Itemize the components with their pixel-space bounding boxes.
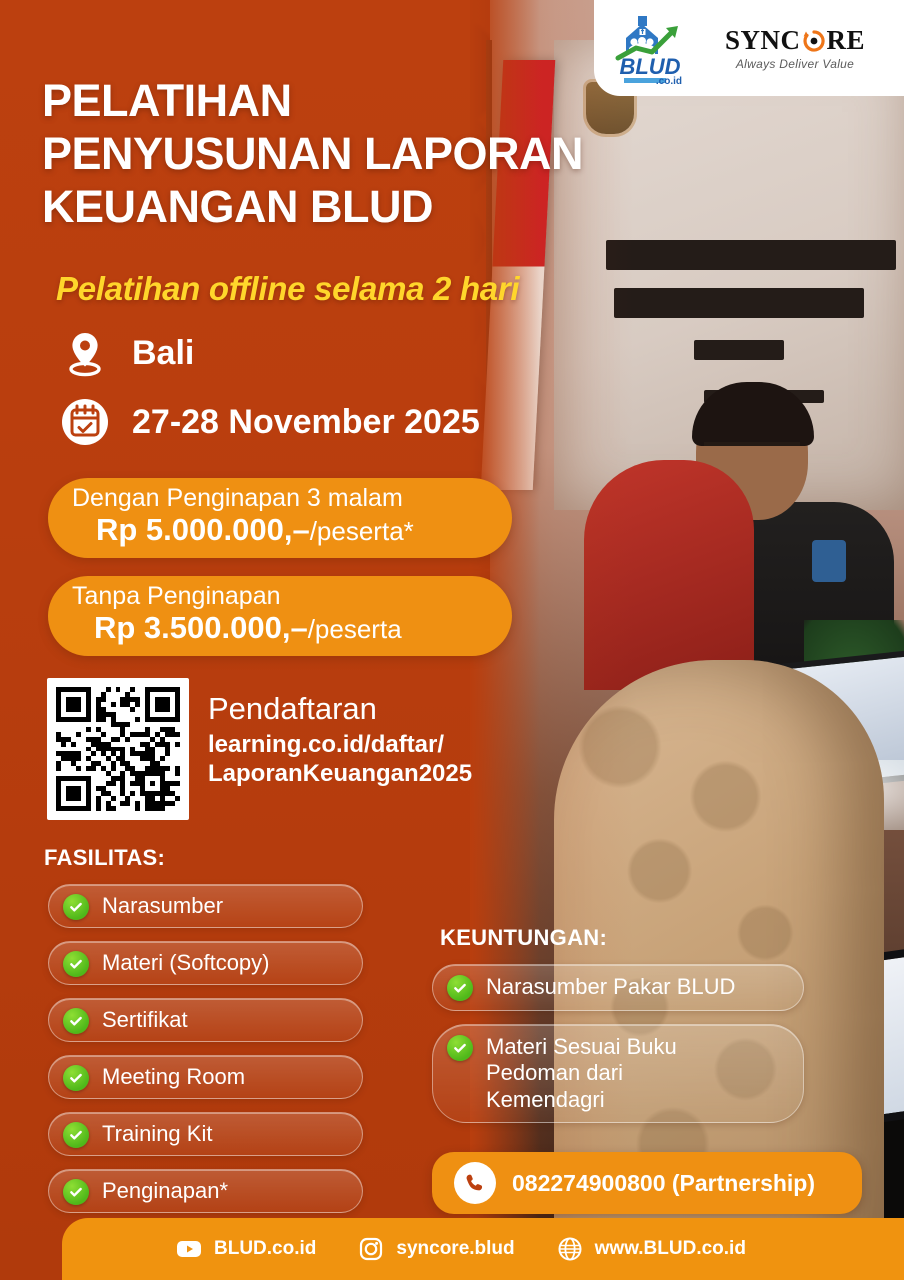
check-icon bbox=[63, 1008, 89, 1034]
registration-url-line-1: learning.co.id/daftar/ bbox=[208, 730, 528, 759]
event-location-label: Bali bbox=[132, 334, 194, 373]
fasilitas-item: Narasumber bbox=[48, 884, 363, 928]
title-line-2: PENYUSUNAN LAPORAN bbox=[42, 127, 662, 180]
registration-url[interactable]: learning.co.id/daftar/ LaporanKeuangan20… bbox=[208, 730, 528, 789]
fasilitas-item-label: Materi (Softcopy) bbox=[102, 950, 270, 976]
syncore-wordmark: SYNC RE bbox=[725, 25, 865, 56]
syncore-o-icon bbox=[802, 29, 826, 53]
title-line-3: KEUANGAN BLUD bbox=[42, 180, 662, 233]
keuntungan-heading: KEUNTUNGAN: bbox=[440, 925, 607, 951]
calendar-icon bbox=[58, 395, 112, 449]
price-amount: Rp 3.500.000,– bbox=[94, 610, 308, 645]
social-instagram-label: syncore.blud bbox=[396, 1238, 514, 1260]
registration-heading: Pendaftaran bbox=[208, 692, 528, 726]
check-icon bbox=[447, 975, 473, 1001]
keuntungan-item: Narasumber Pakar BLUD bbox=[432, 964, 804, 1011]
fasilitas-item: Meeting Room bbox=[48, 1055, 363, 1099]
footer-social-bar: BLUD.co.id syncore.blud www.BLUD.co.id bbox=[62, 1218, 904, 1280]
price-card-without-lodging: Tanpa Penginapan Rp 3.500.000,–/peserta bbox=[48, 576, 512, 656]
event-location-row: Bali bbox=[58, 326, 194, 380]
check-icon bbox=[63, 1122, 89, 1148]
fasilitas-item-label: Penginapan* bbox=[102, 1178, 228, 1204]
check-icon bbox=[63, 951, 89, 977]
fasilitas-item: Training Kit bbox=[48, 1112, 363, 1156]
registration-block: Pendaftaran learning.co.id/daftar/ Lapor… bbox=[208, 692, 528, 789]
check-icon bbox=[63, 1065, 89, 1091]
keuntungan-item: Materi Sesuai Buku Pedoman dari Kemendag… bbox=[432, 1024, 804, 1123]
price-unit: /peserta* bbox=[310, 516, 414, 546]
social-youtube[interactable]: BLUD.co.id bbox=[174, 1234, 316, 1264]
contact-bar[interactable]: 082274900800 (Partnership) bbox=[432, 1152, 862, 1214]
phone-icon bbox=[454, 1162, 496, 1204]
title-line-1: PELATIHAN bbox=[42, 74, 662, 127]
fasilitas-item-label: Sertifikat bbox=[102, 1007, 188, 1033]
poster-root: BLUD .co.id SYNC RE Always Deliver Value bbox=[0, 0, 904, 1280]
check-icon bbox=[447, 1035, 473, 1061]
price-label: Dengan Penginapan 3 malam bbox=[72, 484, 512, 512]
event-date-label: 27-28 November 2025 bbox=[132, 403, 480, 442]
check-icon bbox=[63, 894, 89, 920]
syncore-tagline: Always Deliver Value bbox=[736, 57, 854, 71]
qr-code[interactable] bbox=[47, 678, 189, 820]
social-website-label: www.BLUD.co.id bbox=[595, 1238, 746, 1260]
price-label: Tanpa Penginapan bbox=[72, 582, 512, 610]
instagram-icon bbox=[356, 1234, 386, 1264]
social-website[interactable]: www.BLUD.co.id bbox=[555, 1234, 746, 1264]
map-pin-icon bbox=[58, 326, 112, 380]
event-date-row: 27-28 November 2025 bbox=[58, 395, 480, 449]
price-card-with-lodging: Dengan Penginapan 3 malam Rp 5.000.000,–… bbox=[48, 478, 512, 558]
page-title: PELATIHAN PENYUSUNAN LAPORAN KEUANGAN BL… bbox=[42, 74, 662, 233]
check-icon bbox=[63, 1179, 89, 1205]
qr-code-pattern bbox=[56, 687, 180, 811]
fasilitas-item-label: Meeting Room bbox=[102, 1064, 245, 1090]
contact-phone-label: 082274900800 (Partnership) bbox=[512, 1170, 815, 1197]
price-unit: /peserta bbox=[308, 614, 402, 644]
youtube-icon bbox=[174, 1234, 204, 1264]
fasilitas-item: Penginapan* bbox=[48, 1169, 363, 1213]
keuntungan-item-label: Narasumber Pakar BLUD bbox=[486, 974, 735, 1000]
page-subtitle: Pelatihan offline selama 2 hari bbox=[56, 270, 676, 308]
fasilitas-heading: FASILITAS: bbox=[44, 845, 165, 871]
globe-icon bbox=[555, 1234, 585, 1264]
fasilitas-item: Sertifikat bbox=[48, 998, 363, 1042]
fasilitas-item-label: Training Kit bbox=[102, 1121, 212, 1147]
fasilitas-item-label: Narasumber bbox=[102, 893, 223, 919]
social-youtube-label: BLUD.co.id bbox=[214, 1238, 316, 1260]
registration-url-line-2: LaporanKeuangan2025 bbox=[208, 759, 528, 788]
fasilitas-item: Materi (Softcopy) bbox=[48, 941, 363, 985]
keuntungan-item-label: Materi Sesuai Buku Pedoman dari Kemendag… bbox=[486, 1034, 677, 1113]
price-amount: Rp 5.000.000,– bbox=[96, 512, 310, 547]
social-instagram[interactable]: syncore.blud bbox=[356, 1234, 514, 1264]
